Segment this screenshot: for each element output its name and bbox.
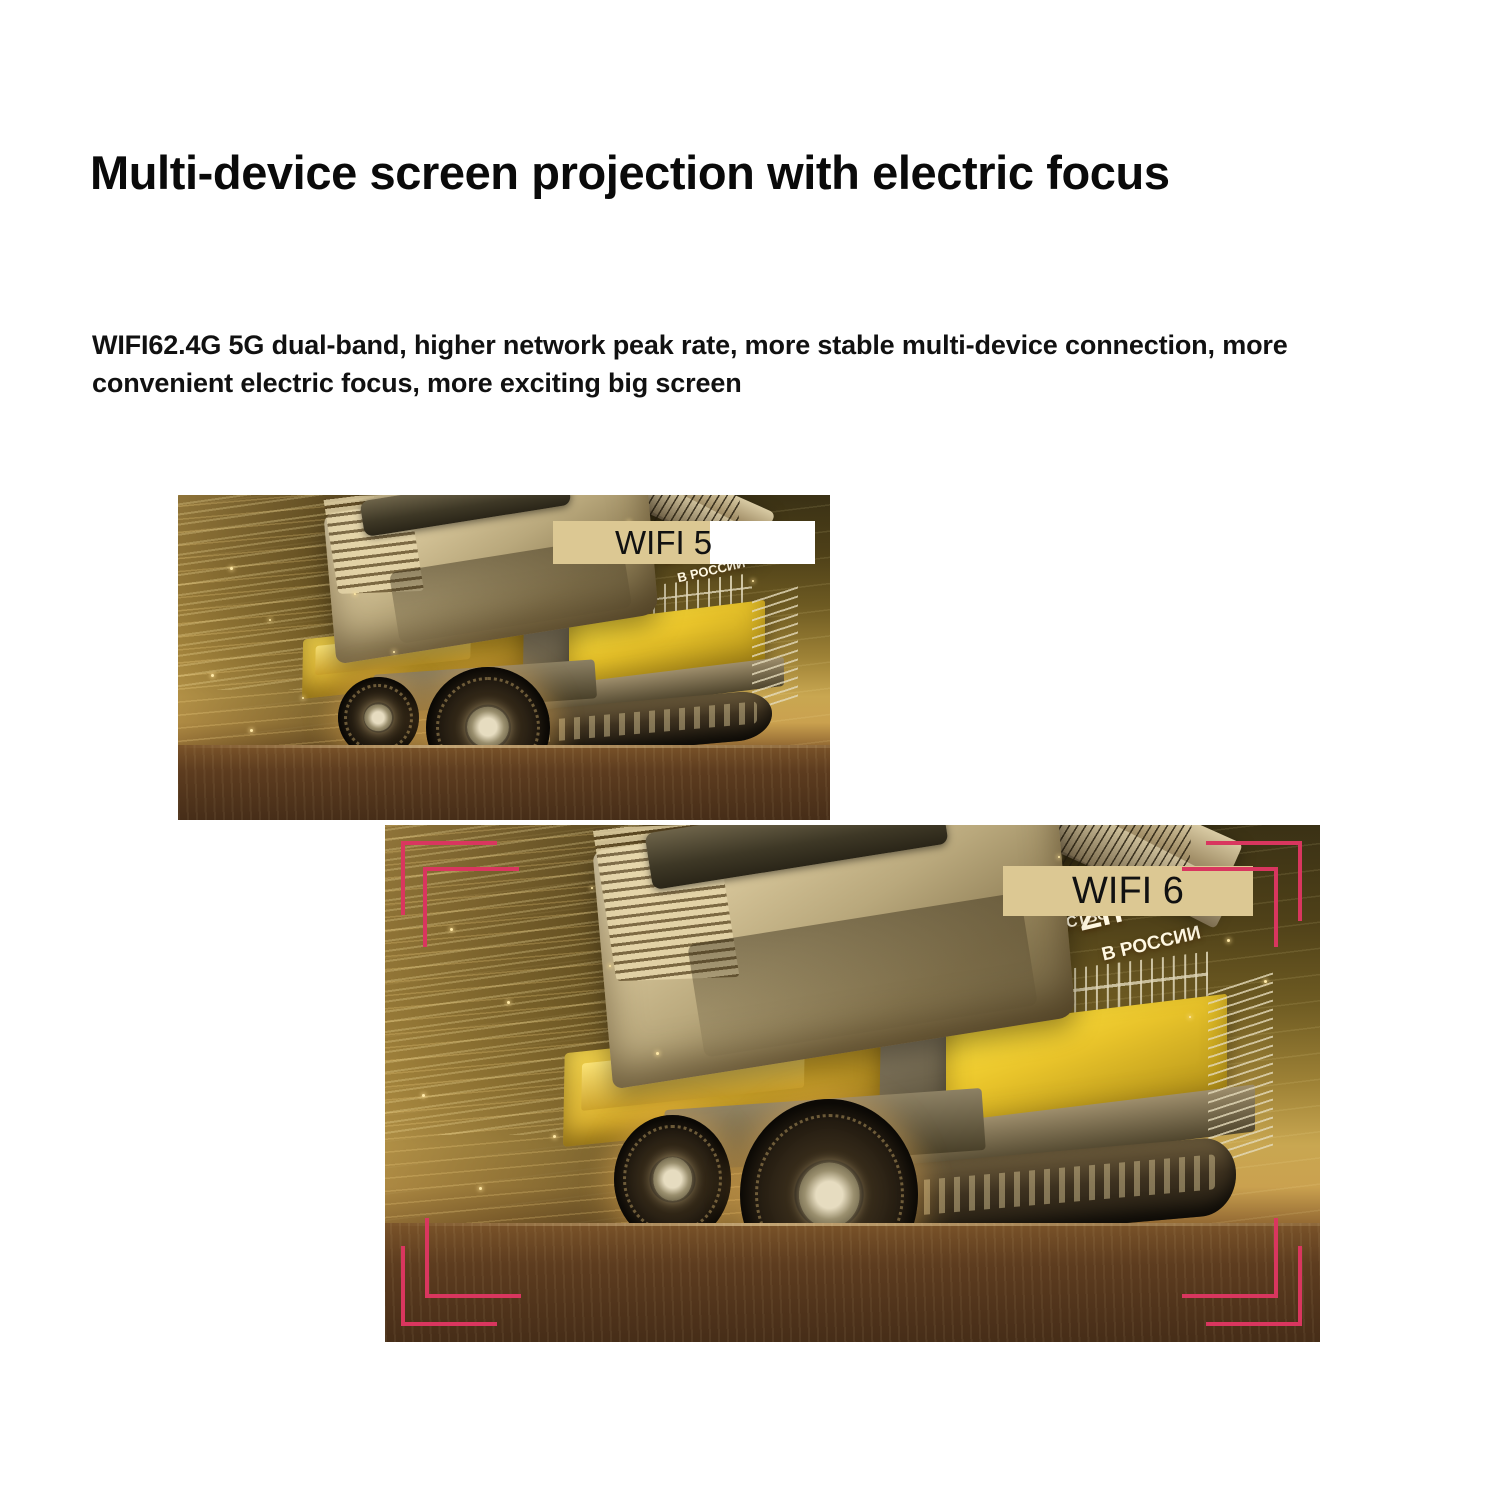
corner-bracket-top-right <box>1182 841 1302 947</box>
corner-bracket-bottom-left <box>401 1218 521 1326</box>
page-title: Multi-device screen projection with elec… <box>90 146 1320 201</box>
page-subtitle: WIFI62.4G 5G dual-band, higher network p… <box>92 326 1412 403</box>
wifi5-badge: WIFI 5 <box>553 521 815 564</box>
corner-bracket-top-left <box>401 841 521 947</box>
corner-bracket-bottom-right <box>1182 1218 1302 1326</box>
